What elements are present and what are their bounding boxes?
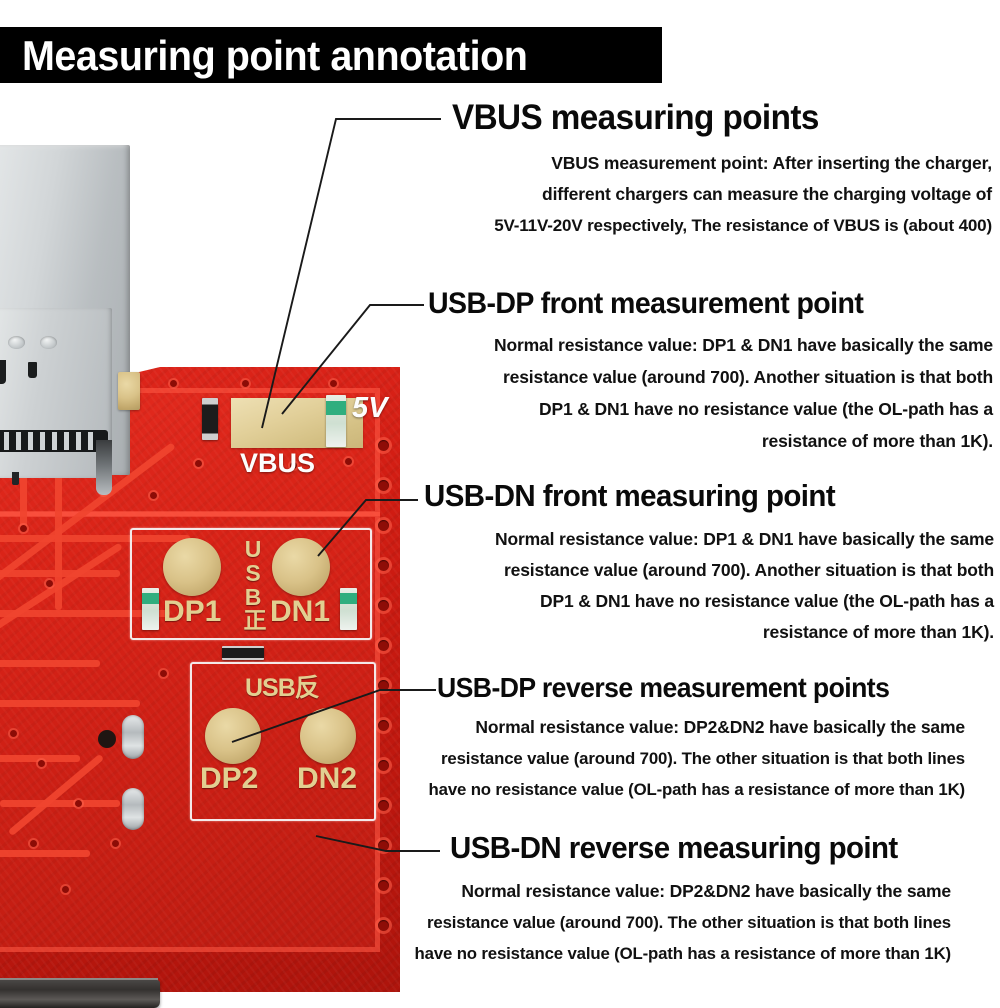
pcb-via [378, 560, 389, 571]
pcb-via [195, 460, 202, 467]
smd-resistor [222, 646, 264, 660]
dp1-silkscreen-label: DP1 [163, 595, 221, 629]
annotation-heading: VBUS measuring points [452, 98, 965, 138]
corner-gold-pad [118, 372, 140, 410]
smd-led-indicator [142, 588, 159, 630]
pcb-trace [0, 800, 120, 807]
voltage-silkscreen-label: 5V [352, 392, 387, 425]
usb-c-dimple [8, 336, 25, 349]
pcb-via [345, 458, 352, 465]
annotation-body: Normal resistance value: DP2&DN2 have ba… [408, 876, 951, 969]
pcb-via [378, 680, 389, 691]
usb-c-port-slot [0, 430, 108, 452]
annotation-line: DP1 & DN1 have no resistance value (the … [424, 586, 994, 617]
annotation-body: VBUS measurement point: After inserting … [452, 148, 992, 241]
annotation-vbus: VBUS measuring points VBUS measurement p… [452, 98, 992, 241]
annotation-line: Normal resistance value: DP1 & DN1 have … [428, 329, 993, 361]
annotation-line: resistance value (around 700). Another s… [424, 555, 994, 586]
smd-led-indicator [340, 588, 357, 630]
pcb-via [378, 760, 389, 771]
dn1-silkscreen-label: DN1 [270, 595, 330, 629]
pcb-trace [0, 700, 140, 707]
usb-c-latch-notch [28, 362, 37, 378]
annotation-usb-dp-reverse: USB-DP reverse measurement points Normal… [437, 672, 993, 805]
usb-c-dimple [40, 336, 57, 349]
usb-c-pin-row [0, 472, 110, 486]
pcb-via [378, 920, 389, 931]
pcb-via [378, 840, 389, 851]
annotation-body: Normal resistance value: DP1 & DN1 have … [428, 329, 993, 457]
pcb-via [30, 840, 37, 847]
annotation-heading: USB-DN reverse measuring point [450, 830, 966, 866]
annotation-line: Normal resistance value: DP1 & DN1 have … [424, 524, 994, 555]
annotation-heading: USB-DN front measuring point [424, 478, 966, 514]
pcb-via [378, 600, 389, 611]
pcb-via [170, 380, 177, 387]
annotation-line: resistance value (around 700). The other… [409, 743, 965, 774]
dn2-silkscreen-label: DN2 [297, 762, 357, 796]
mounting-slot-lower [122, 788, 144, 830]
pcb-photograph: VBUS 5V USB正 DP1 DN1 USB反 DP2 DN2 [0, 140, 410, 860]
pcb-via [38, 760, 45, 767]
pcb-trace [0, 660, 100, 667]
annotation-line: different chargers can measure the charg… [452, 179, 992, 210]
pcb-via [160, 670, 167, 677]
usb-c-latch-notch [0, 360, 6, 384]
annotation-line: VBUS measurement point: After inserting … [452, 148, 992, 179]
board-bottom-edge [0, 980, 160, 1008]
pcb-via [150, 492, 157, 499]
annotation-usb-dn-front: USB-DN front measuring point Normal resi… [424, 478, 994, 648]
annotation-line: 5V-11V-20V respectively, The resistance … [452, 210, 992, 241]
annotation-usb-dn-reverse: USB-DN reverse measuring point Normal re… [450, 830, 993, 969]
pcb-via [378, 880, 389, 891]
pcb-via [112, 840, 119, 847]
annotation-heading: USB-DP reverse measurement points [437, 672, 965, 704]
pcb-via [330, 380, 337, 387]
annotation-line: Normal resistance value: DP2&DN2 have ba… [409, 712, 965, 743]
pcb-trace [0, 850, 90, 857]
mounting-slot-upper [122, 715, 144, 759]
annotation-heading: USB-DP front measurement point [428, 287, 965, 321]
pcb-via [378, 640, 389, 651]
pcb-via [378, 480, 389, 491]
dn1-test-pad[interactable] [272, 538, 330, 596]
pcb-via [10, 730, 17, 737]
dn2-test-pad[interactable] [300, 708, 356, 764]
usb-c-solder-leg [96, 440, 112, 495]
annotation-line: resistance of more than 1K). [428, 425, 993, 457]
usb-reverse-silkscreen-label: USB反 [245, 668, 319, 704]
page-title: Measuring point annotation [22, 29, 624, 83]
annotation-line: Normal resistance value: DP2&DN2 have ba… [408, 876, 951, 907]
pcb-via [75, 800, 82, 807]
pcb-via [46, 580, 53, 587]
usb-front-silkscreen-label: USB正 [236, 536, 270, 629]
annotation-line: DP1 & DN1 have no resistance value (the … [428, 393, 993, 425]
pcb-via [62, 886, 69, 893]
smd-resistor [202, 398, 218, 440]
annotation-line: resistance value (around 700). Another s… [428, 361, 993, 393]
pcb-via [242, 380, 249, 387]
pcb-via [378, 800, 389, 811]
annotation-body: Normal resistance value: DP1 & DN1 have … [424, 524, 994, 648]
annotation-line: have no resistance value (OL-path has a … [408, 938, 951, 969]
dp2-silkscreen-label: DP2 [200, 762, 258, 796]
pcb-via [20, 525, 27, 532]
annotation-body: Normal resistance value: DP2&DN2 have ba… [409, 712, 965, 805]
pcb-via [378, 440, 389, 451]
annotation-line: resistance value (around 700). The other… [408, 907, 951, 938]
annotation-usb-dp-front: USB-DP front measurement point Normal re… [428, 287, 993, 457]
annotation-line: have no resistance value (OL-path has a … [409, 774, 965, 805]
mounting-hole [98, 730, 116, 748]
annotation-line: resistance of more than 1K). [424, 617, 994, 648]
pcb-via [378, 520, 389, 531]
dp2-test-pad[interactable] [205, 708, 261, 764]
dp1-test-pad[interactable] [163, 538, 221, 596]
pcb-via [378, 720, 389, 731]
vbus-silkscreen-label: VBUS [240, 448, 315, 479]
smd-led-indicator [326, 395, 346, 447]
